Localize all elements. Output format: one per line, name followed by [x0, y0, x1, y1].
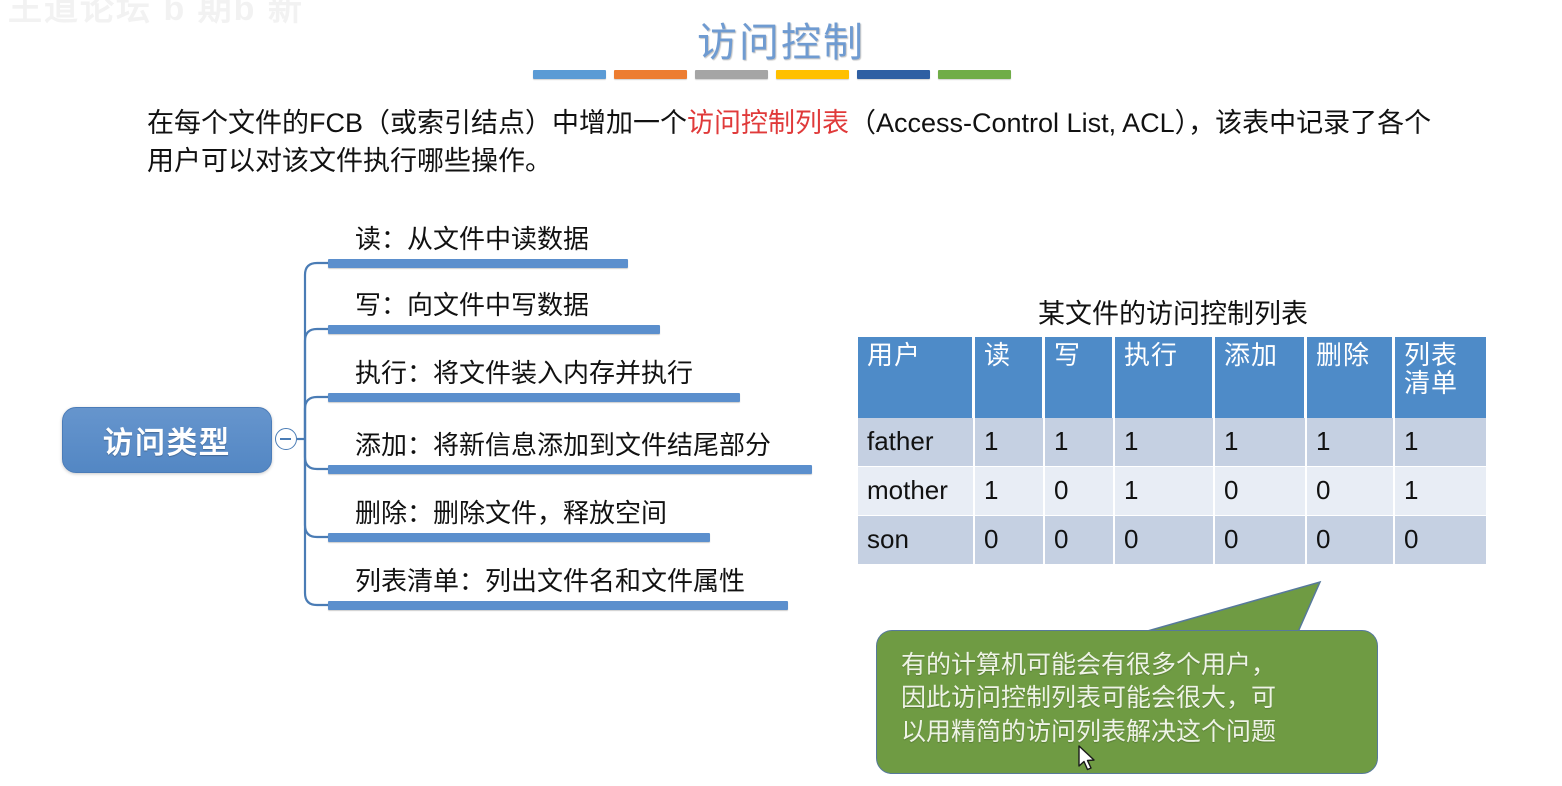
rule-segment-5 — [857, 70, 930, 79]
cell-list: 1 — [1395, 418, 1486, 467]
rule-segment-2 — [614, 70, 687, 79]
cell-append: 0 — [1215, 516, 1307, 565]
table-row: mother 1 0 1 0 0 1 — [858, 467, 1486, 516]
cell-user: father — [858, 418, 975, 467]
column-header-user: 用户 — [858, 337, 975, 418]
mindmap: 访问类型 读：从文件中读数据 写：向文件中写数据 执行：将文件装入内存并执行 添… — [0, 195, 860, 655]
minus-circle-icon[interactable] — [275, 428, 297, 450]
cell-execute: 0 — [1115, 516, 1215, 565]
branch-label-delete: 删除：删除文件，释放空间 — [355, 493, 667, 530]
column-header-read: 读 — [975, 337, 1045, 418]
cell-user: son — [858, 516, 975, 565]
paragraph-part-1: 在每个文件的FCB（或索引结点）中增加一个 — [147, 108, 687, 138]
table-title: 某文件的访问控制列表 — [858, 292, 1488, 331]
slide-canvas: 王道论坛 b 期b 新 访问控制 在每个文件的FCB（或索引结点）中增加一个访问… — [0, 0, 1562, 786]
cell-write: 0 — [1045, 467, 1115, 516]
rule-segment-1 — [533, 70, 606, 79]
cell-append: 0 — [1215, 467, 1307, 516]
cell-write: 0 — [1045, 516, 1115, 565]
branch-underline-list — [328, 601, 788, 610]
rule-segment-4 — [776, 70, 849, 79]
cell-delete: 0 — [1307, 516, 1395, 565]
page-title: 访问控制 — [0, 10, 1562, 68]
cell-append: 1 — [1215, 418, 1307, 467]
branch-underline-append — [328, 465, 812, 474]
cell-list: 0 — [1395, 516, 1486, 565]
callout-line-1: 有的计算机可能会有很多个用户， — [901, 649, 1357, 682]
mindmap-root-node[interactable]: 访问类型 — [62, 407, 272, 473]
branch-underline-read — [328, 259, 628, 268]
rule-segment-3 — [695, 70, 768, 79]
callout-bubble: 有的计算机可能会有很多个用户， 因此访问控制列表可能会很大，可 以用精简的访问列… — [876, 630, 1378, 774]
column-header-list: 列表 清单 — [1395, 337, 1486, 418]
callout-line-3: 以用精简的访问列表解决这个问题 — [901, 716, 1357, 749]
mouse-pointer-icon — [1078, 745, 1098, 773]
cell-read: 1 — [975, 467, 1045, 516]
title-rule — [533, 70, 1011, 80]
callout-line-2: 因此访问控制列表可能会很大，可 — [901, 682, 1357, 715]
branch-underline-write — [328, 325, 660, 334]
table-row: father 1 1 1 1 1 1 — [858, 418, 1486, 467]
table-header-row: 用户 读 写 执行 添加 删除 列表 清单 — [858, 337, 1486, 418]
table-row: son 0 0 0 0 0 0 — [858, 516, 1486, 565]
cell-list: 1 — [1395, 467, 1486, 516]
branch-label-write: 写：向文件中写数据 — [355, 285, 589, 322]
cell-execute: 1 — [1115, 418, 1215, 467]
cell-read: 1 — [975, 418, 1045, 467]
acl-table: 用户 读 写 执行 添加 删除 列表 清单 father 1 1 1 1 1 1… — [858, 337, 1486, 565]
column-header-write: 写 — [1045, 337, 1115, 418]
branch-label-read: 读：从文件中读数据 — [355, 219, 589, 256]
column-header-append: 添加 — [1215, 337, 1307, 418]
cell-delete: 1 — [1307, 418, 1395, 467]
rule-segment-6 — [938, 70, 1011, 79]
cell-user: mother — [858, 467, 975, 516]
cell-write: 1 — [1045, 418, 1115, 467]
branch-label-execute: 执行：将文件装入内存并执行 — [355, 353, 693, 390]
column-header-delete: 删除 — [1307, 337, 1395, 418]
cell-read: 0 — [975, 516, 1045, 565]
branch-underline-delete — [328, 533, 710, 542]
paragraph-highlight: 访问控制列表 — [687, 108, 849, 138]
mindmap-root-label: 访问类型 — [103, 418, 231, 462]
column-header-execute: 执行 — [1115, 337, 1215, 418]
cell-execute: 1 — [1115, 467, 1215, 516]
cell-delete: 0 — [1307, 467, 1395, 516]
branch-underline-execute — [328, 393, 740, 402]
branch-label-list: 列表清单：列出文件名和文件属性 — [355, 561, 745, 598]
branch-label-append: 添加：将新信息添加到文件结尾部分 — [355, 425, 771, 462]
body-paragraph: 在每个文件的FCB（或索引结点）中增加一个访问控制列表（Access-Contr… — [147, 104, 1437, 181]
